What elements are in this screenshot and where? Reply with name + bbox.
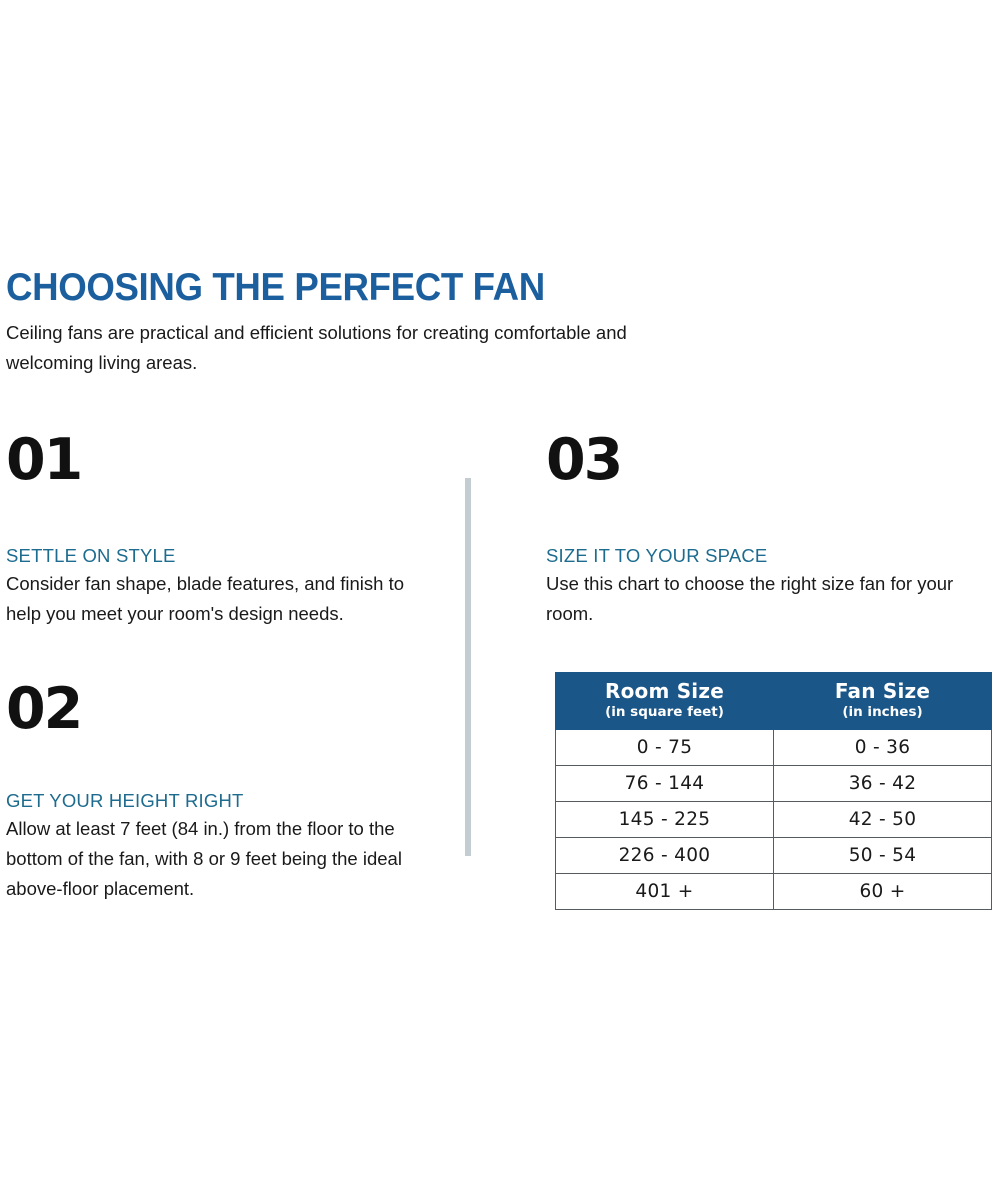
intro-block: CHOOSING THE PERFECT FAN Ceiling fans ar…	[6, 268, 706, 378]
right-column: 03 SIZE IT TO YOUR SPACE Use this chart …	[546, 432, 996, 629]
cell-room-size: 226 - 400	[556, 838, 774, 874]
intro-paragraph: Ceiling fans are practical and efficient…	[6, 318, 696, 378]
table-row: 226 - 400 50 - 54	[556, 838, 992, 874]
spacer	[6, 738, 406, 790]
column-header-fan-size: Fan Size (in inches)	[774, 673, 992, 730]
table-row: 401 + 60 +	[556, 874, 992, 910]
step-block-01: 01 SETTLE ON STYLE Consider fan shape, b…	[6, 432, 406, 629]
column-header-room-size-unit: (in square feet)	[560, 704, 769, 720]
infographic-page: CHOOSING THE PERFECT FAN Ceiling fans ar…	[0, 0, 1000, 1200]
column-header-fan-size-unit: (in inches)	[778, 704, 987, 720]
step-heading-02: GET YOUR HEIGHT RIGHT	[6, 790, 406, 812]
table-body: 0 - 75 0 - 36 76 - 144 36 - 42 145 - 225…	[556, 730, 992, 910]
spacer	[6, 489, 406, 545]
step-heading-03: SIZE IT TO YOUR SPACE	[546, 545, 996, 567]
column-header-room-size-label: Room Size	[560, 680, 769, 703]
cell-fan-size: 60 +	[774, 874, 992, 910]
column-header-room-size: Room Size (in square feet)	[556, 673, 774, 730]
fan-sizing-chart: Room Size (in square feet) Fan Size (in …	[555, 672, 992, 910]
spacer	[546, 489, 996, 545]
cell-fan-size: 36 - 42	[774, 766, 992, 802]
cell-fan-size: 50 - 54	[774, 838, 992, 874]
step-body-02: Allow at least 7 feet (84 in.) from the …	[6, 814, 406, 904]
table-header-row: Room Size (in square feet) Fan Size (in …	[556, 673, 992, 730]
table-row: 145 - 225 42 - 50	[556, 802, 992, 838]
cell-room-size: 76 - 144	[556, 766, 774, 802]
page-title: CHOOSING THE PERFECT FAN	[6, 268, 664, 309]
step-block-02: 02 GET YOUR HEIGHT RIGHT Allow at least …	[6, 681, 406, 904]
step-body-03: Use this chart to choose the right size …	[546, 569, 996, 629]
left-column: 01 SETTLE ON STYLE Consider fan shape, b…	[6, 432, 406, 904]
step-block-03: 03 SIZE IT TO YOUR SPACE Use this chart …	[546, 432, 996, 629]
cell-fan-size: 0 - 36	[774, 730, 992, 766]
table-row: 0 - 75 0 - 36	[556, 730, 992, 766]
cell-fan-size: 42 - 50	[774, 802, 992, 838]
step-heading-01: SETTLE ON STYLE	[6, 545, 406, 567]
step-body-01: Consider fan shape, blade features, and …	[6, 569, 406, 629]
column-divider	[465, 478, 471, 856]
cell-room-size: 145 - 225	[556, 802, 774, 838]
step-number-01: 01	[6, 432, 406, 489]
size-table: Room Size (in square feet) Fan Size (in …	[555, 672, 992, 910]
cell-room-size: 401 +	[556, 874, 774, 910]
table-row: 76 - 144 36 - 42	[556, 766, 992, 802]
cell-room-size: 0 - 75	[556, 730, 774, 766]
column-header-fan-size-label: Fan Size	[778, 680, 987, 703]
step-number-02: 02	[6, 681, 406, 738]
step-number-03: 03	[546, 432, 996, 489]
